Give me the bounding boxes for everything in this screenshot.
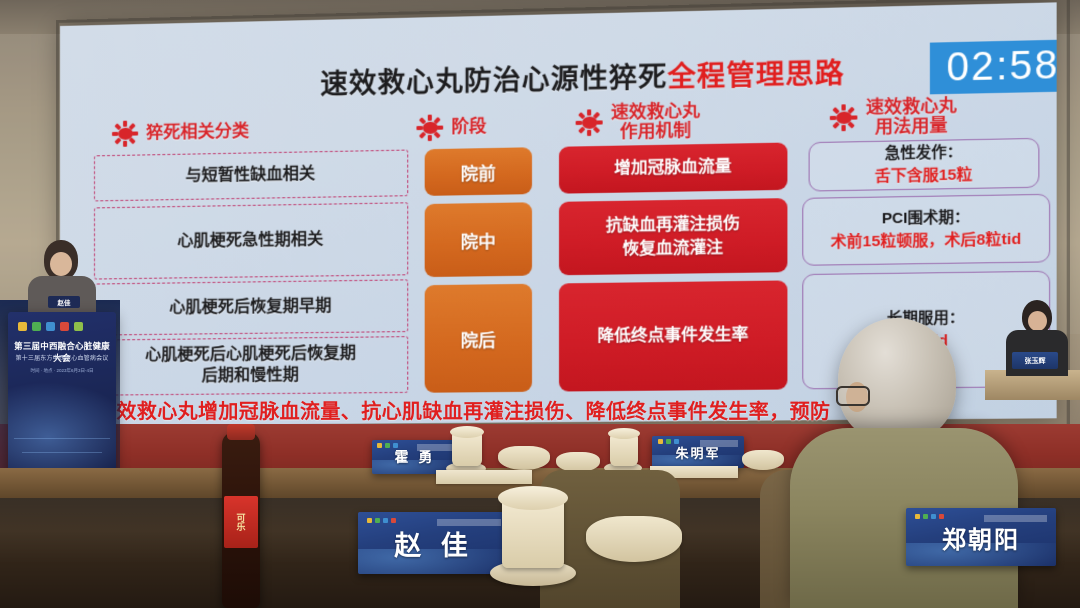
countdown-timer: 02:58: [930, 39, 1057, 94]
stage-box: 院中: [425, 202, 532, 277]
mechanism-box: 抗缺血再灌注损伤 恢复血流灌注: [559, 198, 787, 275]
cup-lid: [498, 486, 568, 510]
logo-icon: [74, 322, 83, 331]
podium-decor-line: [22, 452, 102, 453]
slide-title-red: 全程管理思路: [667, 50, 844, 94]
foreground-person-glasses: [836, 386, 870, 406]
speaker-face: [50, 252, 72, 276]
timer-value: 02:58: [946, 43, 1056, 90]
plate-logo-row: [367, 518, 396, 523]
side-person-nameplate: 张玉辉: [1012, 352, 1058, 369]
dosage-key: 急性发作：: [885, 142, 962, 165]
conference-photo-scene: 速效救心丸防治心源性猝死 全程管理思路 02:58 猝死相关分类: [0, 0, 1080, 608]
column-header-label-line2: 用法用量: [875, 116, 948, 137]
sunburst-icon: [576, 109, 603, 136]
mechanism-box: 增加冠脉血流量: [559, 143, 787, 194]
bottle-label: 可乐: [224, 496, 258, 548]
mechanism-text: 增加冠脉血流量: [614, 155, 731, 181]
cup-lid: [450, 426, 484, 438]
nameplate-name: 赵 佳: [394, 524, 474, 563]
paper-sheet: [436, 470, 532, 484]
stage-label: 院后: [461, 325, 496, 351]
dosage-key: PCI围术期：: [882, 208, 970, 231]
folded-towel: [556, 452, 600, 472]
dosage-box: 急性发作： 舌下含服15粒: [809, 138, 1040, 192]
logo-icon: [46, 322, 55, 331]
stage-label: 院前: [461, 159, 496, 185]
stage-label: 院中: [461, 227, 496, 253]
nameplate-zhaojia: 赵 佳: [358, 512, 510, 574]
column-header-label-line1: 速效救心丸: [866, 96, 957, 117]
cup-lid: [608, 428, 640, 439]
logo-icon: [60, 322, 69, 331]
classification-text-line1: 心肌梗死后心肌梗死后恢复期: [145, 344, 356, 367]
nameplate-name: 朱明军: [675, 443, 720, 462]
podium: 第三届中西融合心脏健康大会 第十三届东方中西医心血管病会议 时间 · 地点 · …: [8, 312, 116, 494]
podium-decor-line: [14, 438, 110, 439]
speaker-name-badge: 赵佳: [48, 296, 80, 308]
podium-logo-row: [18, 322, 83, 331]
nameplate-name: 霍 勇: [395, 447, 436, 467]
logo-icon: [32, 322, 41, 331]
dosage-value: 舌下含服15粒: [875, 164, 973, 188]
stage-box: 院前: [425, 147, 532, 196]
column-header-label-line1: 速效救心丸: [611, 101, 700, 122]
mechanism-text-line2: 恢复血流灌注: [622, 236, 723, 261]
sunburst-icon: [830, 104, 858, 131]
logo-icon: [18, 322, 27, 331]
column-header-label-line2: 作用机制: [620, 121, 691, 142]
folded-towel: [742, 450, 784, 470]
classification-text: 心肌梗死急性期相关: [177, 230, 323, 253]
column-header-mechanism: 速效救心丸 作用机制: [576, 101, 700, 142]
classification-box: 心肌梗死急性期相关: [94, 202, 408, 279]
classification-text-line2: 后期和慢性期: [202, 366, 299, 388]
podium-subtitle: 第十三届东方中西医心血管病会议: [13, 353, 111, 362]
column-header-stage: 阶段: [416, 114, 486, 142]
nameplate-zhengchaoyang: 郑朝阳: [906, 508, 1056, 566]
classification-box: 心肌梗死后恢复期早期: [94, 279, 408, 335]
mechanism-text: 降低终点事件发生率: [597, 323, 748, 348]
mechanism-box: 降低终点事件发生率: [559, 280, 787, 391]
stage-box: 院后: [425, 284, 532, 393]
sunburst-icon: [416, 114, 443, 141]
folded-towel: [586, 516, 682, 562]
plate-logo-row: [915, 514, 944, 519]
column-header-dosage: 速效救心丸 用法用量: [830, 96, 957, 138]
folded-towel: [498, 446, 550, 470]
bottle-cap: [227, 424, 255, 440]
mechanism-text-line1: 抗缺血再灌注损伤: [606, 212, 740, 238]
classification-text: 心肌梗死后恢复期早期: [169, 296, 331, 319]
side-person-face: [1028, 311, 1047, 331]
dosage-value: 术前15粒顿服，术后8粒tid: [831, 228, 1022, 253]
podium-footer: 时间 · 地点 · 2023年6月3日-4日: [13, 368, 111, 374]
column-header-classification: 猝死相关分类: [112, 118, 249, 147]
dosage-box: PCI围术期： 术前15粒顿服，术后8粒tid: [802, 194, 1050, 266]
nameplate-zhumingjun: 朱明军: [652, 436, 744, 468]
slide-title-black: 速效救心丸防治心源性猝死: [320, 54, 667, 101]
classification-box: 心肌梗死后心肌梗死后恢复期 后期和慢性期: [94, 336, 408, 396]
foreground-person-head: [838, 318, 956, 442]
classification-text: 与短暂性缺血相关: [185, 164, 315, 187]
column-header-label: 猝死相关分类: [146, 122, 249, 143]
nameplate-name: 郑朝阳: [942, 520, 1020, 555]
column-header-label: 阶段: [451, 117, 486, 137]
sunburst-icon: [112, 120, 138, 147]
classification-box: 与短暂性缺血相关: [94, 150, 408, 202]
